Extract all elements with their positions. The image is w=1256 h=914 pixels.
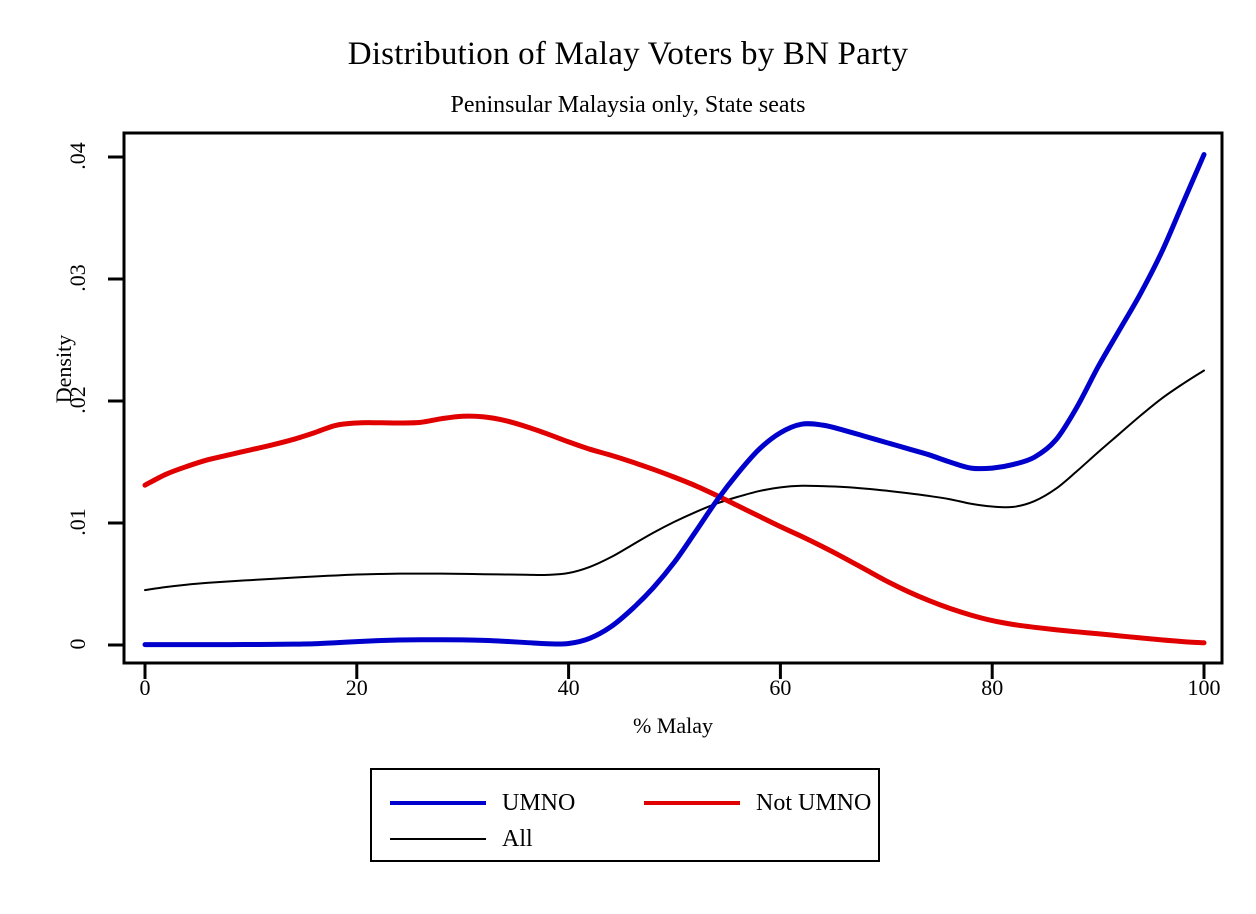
y-tick-label-.01: .01 [65,492,91,552]
y-tick-label-.02: .02 [65,370,91,430]
legend-label: UMNO [502,790,575,816]
legend-label: Not UMNO [756,790,871,816]
y-tick-label-.03: .03 [65,248,91,308]
series-line-umno [145,155,1204,645]
legend-item-not-umno[interactable]: Not UMNO [644,790,871,816]
y-tick-label-.04: .04 [65,126,91,186]
legend-swatch-all [390,838,486,840]
axis-ticks [108,157,1204,679]
chart-figure: Distribution of Malay Voters by BN Party… [0,0,1256,914]
chart-legend: UMNONot UMNOAll [370,768,880,862]
x-tick-label-40: 40 [529,675,609,701]
x-tick-label-20: 20 [317,675,397,701]
y-tick-label-0: 0 [65,614,91,674]
x-tick-label-100: 100 [1164,675,1244,701]
x-tick-label-0: 0 [105,675,185,701]
x-tick-label-80: 80 [952,675,1032,701]
series-lines [145,155,1204,645]
plot-frame [124,133,1222,663]
legend-swatch-umno [390,801,486,805]
x-axis-label: % Malay [124,713,1222,739]
legend-swatch-not-umno [644,801,740,805]
legend-label: All [502,826,533,852]
legend-item-all[interactable]: All [390,826,533,852]
series-line-all [145,371,1204,591]
legend-item-umno[interactable]: UMNO [390,790,575,816]
x-tick-label-60: 60 [740,675,820,701]
